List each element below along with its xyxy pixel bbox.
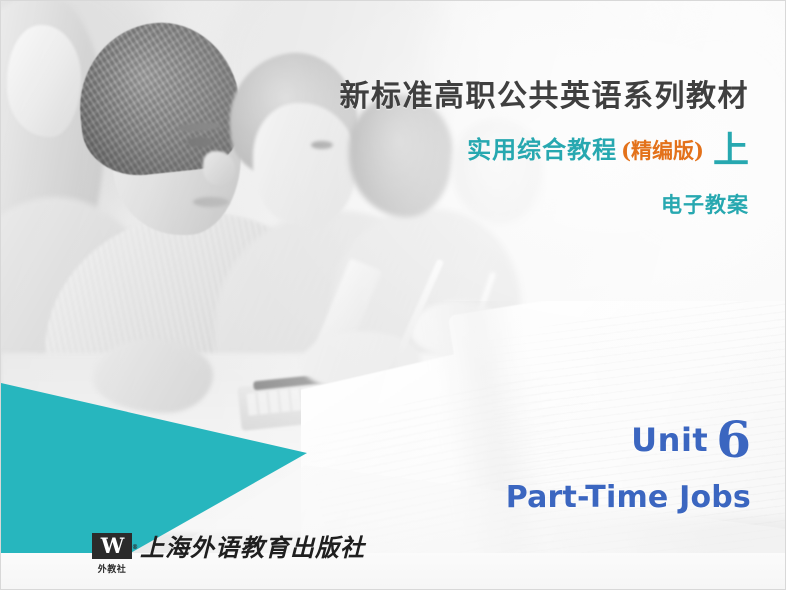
publisher-short-name: 外教社 — [98, 562, 127, 575]
book-title-line: 实用综合教程(精编版)上 — [1, 131, 749, 171]
unit-title: Part-Time Jobs — [506, 483, 751, 513]
publisher-mark: W 外教社 — [89, 533, 135, 575]
publisher-logo: W 外教社 上海外语教育出版社 — [89, 533, 365, 575]
publisher-w-icon: W — [92, 533, 132, 559]
series-title: 新标准高职公共英语系列教材 — [1, 79, 749, 115]
book-title: 实用综合教程 — [467, 135, 617, 164]
publisher-name: 上海外语教育出版社 — [140, 533, 365, 563]
unit-label: Unit — [631, 421, 708, 459]
cover-slide: 新标准高职公共英语系列教材 实用综合教程(精编版)上 电子教案 Unit6 Pa… — [0, 0, 786, 590]
title-block: 新标准高职公共英语系列教材 实用综合教程(精编版)上 电子教案 — [1, 79, 767, 219]
material-type: 电子教案 — [1, 189, 749, 219]
unit-block: Unit6 Part-Time Jobs — [506, 415, 751, 513]
book-edition: (精编版) — [621, 138, 704, 163]
unit-number: 6 — [716, 410, 751, 469]
unit-heading: Unit6 — [506, 415, 751, 465]
book-volume: 上 — [713, 129, 749, 171]
